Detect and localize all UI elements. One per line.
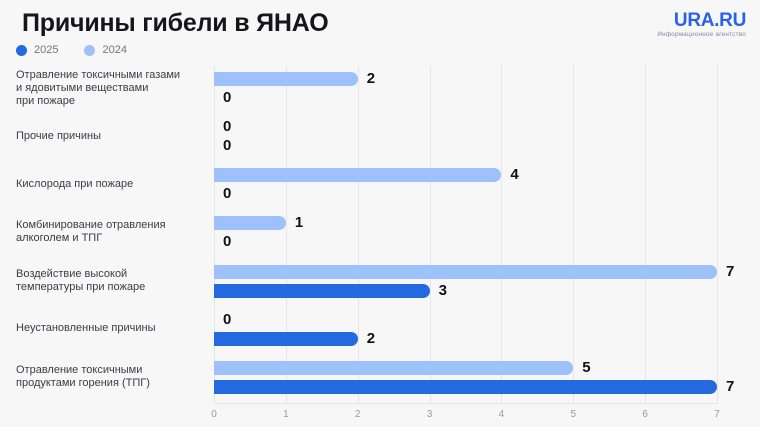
bar-group-row: 10 — [214, 216, 717, 264]
bar-2024[interactable] — [214, 265, 717, 279]
bar-value-label: 7 — [726, 380, 734, 394]
x-tick-label: 7 — [714, 409, 720, 420]
category-axis-labels: Отравление токсичными газамии ядовитыми … — [0, 66, 206, 403]
legend-item-2025: 2025 — [16, 45, 58, 56]
bar-group-row: 73 — [214, 265, 717, 313]
page-title: Причины гибели в ЯНАО — [22, 9, 329, 38]
bar-group-row: 00 — [214, 120, 717, 168]
category-label: Неустановленные причины — [16, 322, 206, 335]
gridline-7 — [717, 66, 718, 403]
bar-value-label: 0 — [223, 187, 231, 201]
bar-group-row: 40 — [214, 168, 717, 216]
category-label: Кислорода при пожаре — [16, 178, 206, 191]
bar-value-label: 1 — [295, 216, 303, 230]
x-tick-label: 2 — [355, 409, 361, 420]
legend-swatch-2025 — [16, 45, 27, 56]
x-tick-label: 4 — [499, 409, 505, 420]
legend-label-2025: 2025 — [34, 45, 58, 56]
bar-value-label: 5 — [582, 361, 590, 375]
bar-value-label: 0 — [223, 235, 231, 249]
category-label: Отравление токсичнымипродуктами горения … — [16, 364, 206, 390]
x-axis-line — [214, 403, 717, 404]
bar-2025[interactable] — [214, 284, 430, 298]
x-tick-label: 6 — [642, 409, 648, 420]
bar-value-label: 7 — [726, 265, 734, 279]
bar-group-row: 02 — [214, 313, 717, 361]
logo-wordmark: URA.RU — [657, 11, 746, 30]
bar-2025[interactable] — [214, 332, 358, 346]
x-axis: 01234567 — [214, 403, 717, 425]
x-tick-label: 1 — [283, 409, 289, 420]
category-label: Прочие причины — [16, 130, 206, 143]
bar-2024[interactable] — [214, 168, 501, 182]
category-label: Воздействие высокойтемпературы при пожар… — [16, 268, 206, 294]
bar-value-label: 4 — [510, 168, 518, 182]
bar-2024[interactable] — [214, 72, 358, 86]
category-label: Комбинирование отравленияалкоголем и ТПГ — [16, 219, 206, 245]
bar-value-label: 2 — [367, 332, 375, 346]
infographic-root: Причины гибели в ЯНАО 2025 2024 URA.RU И… — [0, 0, 760, 427]
bar-2024[interactable] — [214, 361, 573, 375]
logo-tagline: Информационное агентство — [657, 32, 746, 38]
bar-value-label: 3 — [439, 284, 447, 298]
bar-value-label: 0 — [223, 139, 231, 153]
x-tick-label: 5 — [571, 409, 577, 420]
bar-group-row: 20 — [214, 72, 717, 120]
legend-item-2024: 2024 — [84, 45, 126, 56]
bar-value-label: 0 — [223, 120, 231, 134]
bar-value-label: 0 — [223, 91, 231, 105]
ura-ru-logo: URA.RU Информационное агентство — [657, 11, 746, 38]
legend-label-2024: 2024 — [102, 45, 126, 56]
bar-value-label: 0 — [223, 313, 231, 327]
chart-plot-area: 20004010730257 — [214, 66, 717, 403]
chart-legend: 2025 2024 — [16, 45, 127, 56]
category-label: Отравление токсичными газамии ядовитыми … — [16, 69, 206, 108]
legend-swatch-2024 — [84, 45, 95, 56]
bar-group-row: 57 — [214, 361, 717, 409]
bar-2024[interactable] — [214, 216, 286, 230]
bar-2025[interactable] — [214, 380, 717, 394]
x-tick-label: 0 — [211, 409, 217, 420]
bar-value-label: 2 — [367, 72, 375, 86]
chart-bar-rows: 20004010730257 — [214, 66, 717, 403]
x-tick-label: 3 — [427, 409, 433, 420]
